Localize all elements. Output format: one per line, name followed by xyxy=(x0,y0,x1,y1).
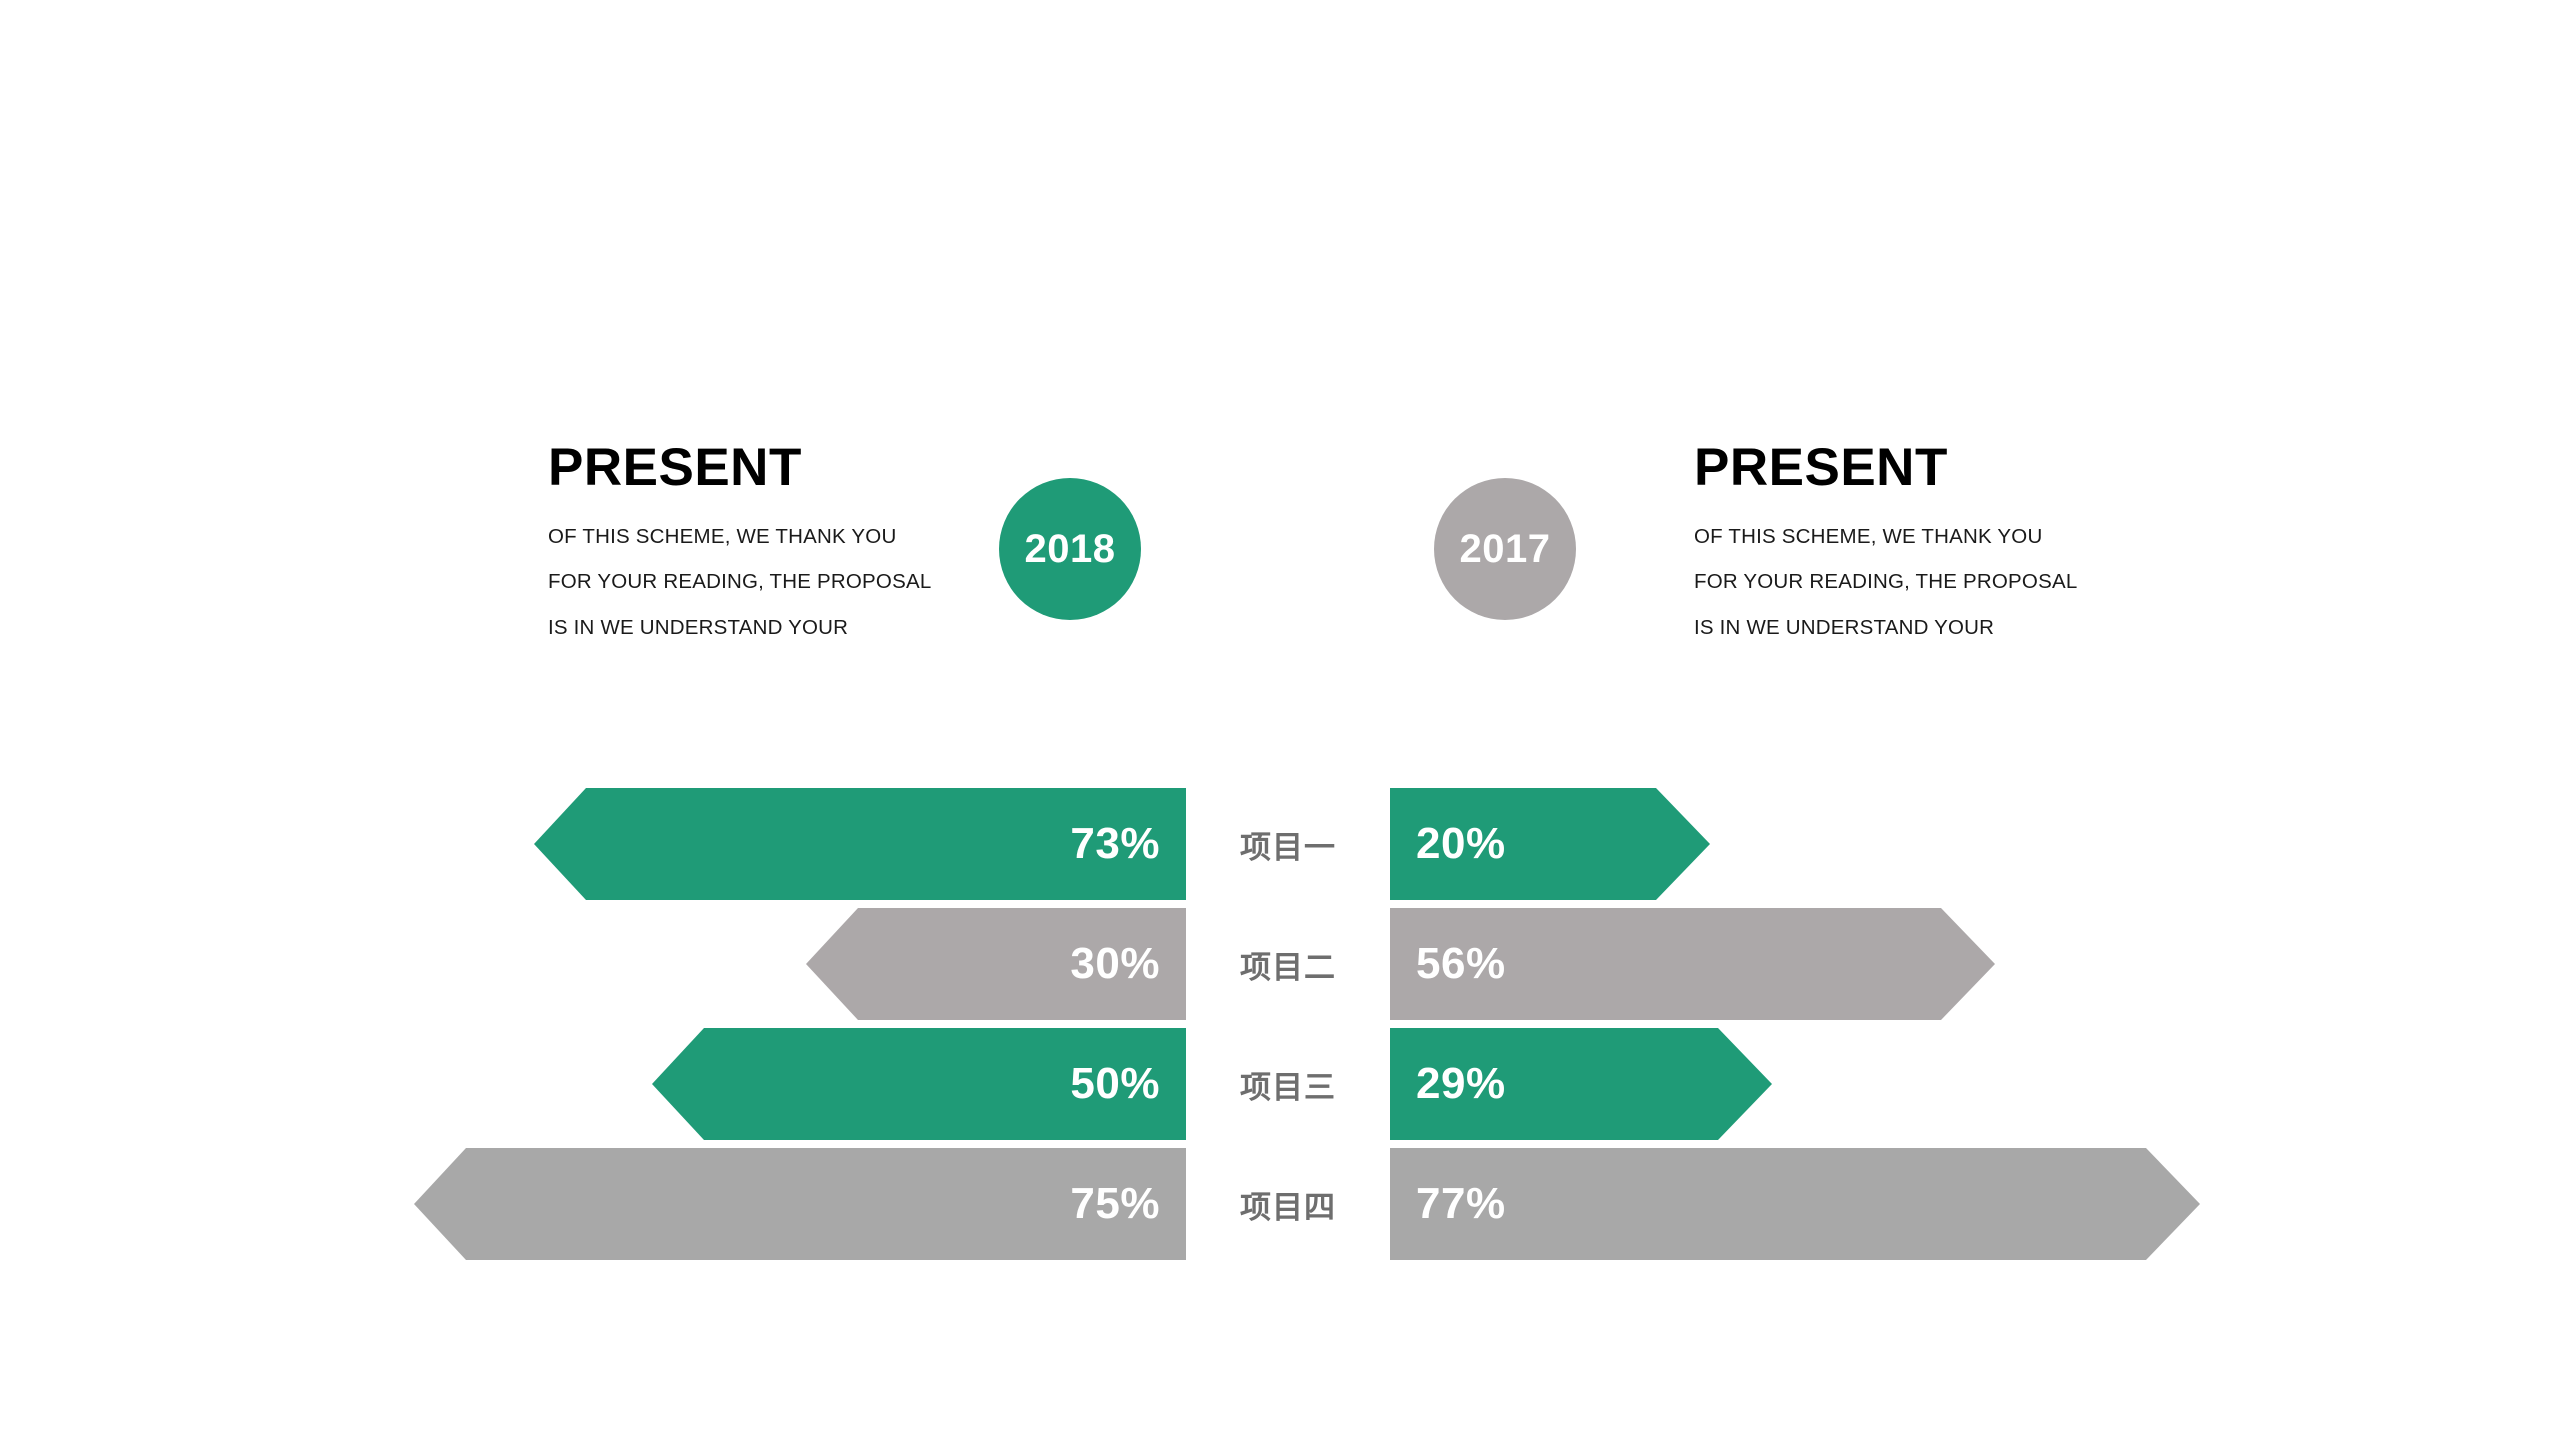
header-section: PRESENT OF THIS SCHEME, WE THANK YOU FOR… xyxy=(0,440,2560,700)
right-present-title: PRESENT xyxy=(1694,440,2114,496)
comparison-bar-chart: 73% 项目一 20% 30% 项目二 56% 50% 项目三 29% xyxy=(0,788,2560,1268)
left-body-line-1: OF THIS SCHEME, WE THANK YOU xyxy=(548,514,968,560)
row-label-2: 项目二 xyxy=(1186,908,1390,1020)
row-label-3: 项目三 xyxy=(1186,1028,1390,1140)
bar-left-row-2[interactable]: 30% xyxy=(806,908,1186,1020)
bar-right-value-row-2: 56% xyxy=(1416,942,1506,986)
left-present-title: PRESENT xyxy=(548,440,968,496)
bar-left-row-3[interactable]: 50% xyxy=(652,1028,1186,1140)
right-body-line-2: FOR YOUR READING, THE PROPOSAL xyxy=(1694,559,2114,605)
row-label-1: 项目一 xyxy=(1186,788,1390,900)
bar-right-row-3[interactable]: 29% xyxy=(1390,1028,1772,1140)
bar-right-value-row-4: 77% xyxy=(1416,1182,1506,1226)
bar-left-row-4[interactable]: 75% xyxy=(414,1148,1186,1260)
left-body-line-2: FOR YOUR READING, THE PROPOSAL xyxy=(548,559,968,605)
bar-row: 30% 项目二 56% xyxy=(0,908,2560,1020)
row-label-4: 项目四 xyxy=(1186,1148,1390,1260)
bar-left-value-row-3: 50% xyxy=(1070,1062,1160,1106)
bar-row: 73% 项目一 20% xyxy=(0,788,2560,900)
right-body-line-3: IS IN WE UNDERSTAND YOUR xyxy=(1694,605,2114,651)
bar-right-value-row-3: 29% xyxy=(1416,1062,1506,1106)
bar-right-row-1[interactable]: 20% xyxy=(1390,788,1710,900)
year-badge-2017-label: 2017 xyxy=(1460,527,1551,572)
left-present-body: OF THIS SCHEME, WE THANK YOU FOR YOUR RE… xyxy=(548,514,968,651)
year-badge-2018[interactable]: 2018 xyxy=(999,478,1141,620)
left-body-line-3: IS IN WE UNDERSTAND YOUR xyxy=(548,605,968,651)
bar-left-value-row-1: 73% xyxy=(1070,822,1160,866)
left-text-block: PRESENT OF THIS SCHEME, WE THANK YOU FOR… xyxy=(548,440,968,650)
right-body-line-1: OF THIS SCHEME, WE THANK YOU xyxy=(1694,514,2114,560)
bar-left-row-1[interactable]: 73% xyxy=(534,788,1186,900)
bar-left-value-row-2: 30% xyxy=(1070,942,1160,986)
bar-right-value-row-1: 20% xyxy=(1416,822,1506,866)
right-text-block: PRESENT OF THIS SCHEME, WE THANK YOU FOR… xyxy=(1694,440,2114,650)
right-present-body: OF THIS SCHEME, WE THANK YOU FOR YOUR RE… xyxy=(1694,514,2114,651)
bar-row: 75% 项目四 77% xyxy=(0,1148,2560,1260)
bar-right-row-2[interactable]: 56% xyxy=(1390,908,1995,1020)
bar-row: 50% 项目三 29% xyxy=(0,1028,2560,1140)
year-badge-2017[interactable]: 2017 xyxy=(1434,478,1576,620)
bar-left-value-row-4: 75% xyxy=(1070,1182,1160,1226)
slide-canvas: PRESENT OF THIS SCHEME, WE THANK YOU FOR… xyxy=(0,0,2560,1440)
year-badge-2018-label: 2018 xyxy=(1025,527,1116,572)
bar-right-row-4[interactable]: 77% xyxy=(1390,1148,2200,1260)
